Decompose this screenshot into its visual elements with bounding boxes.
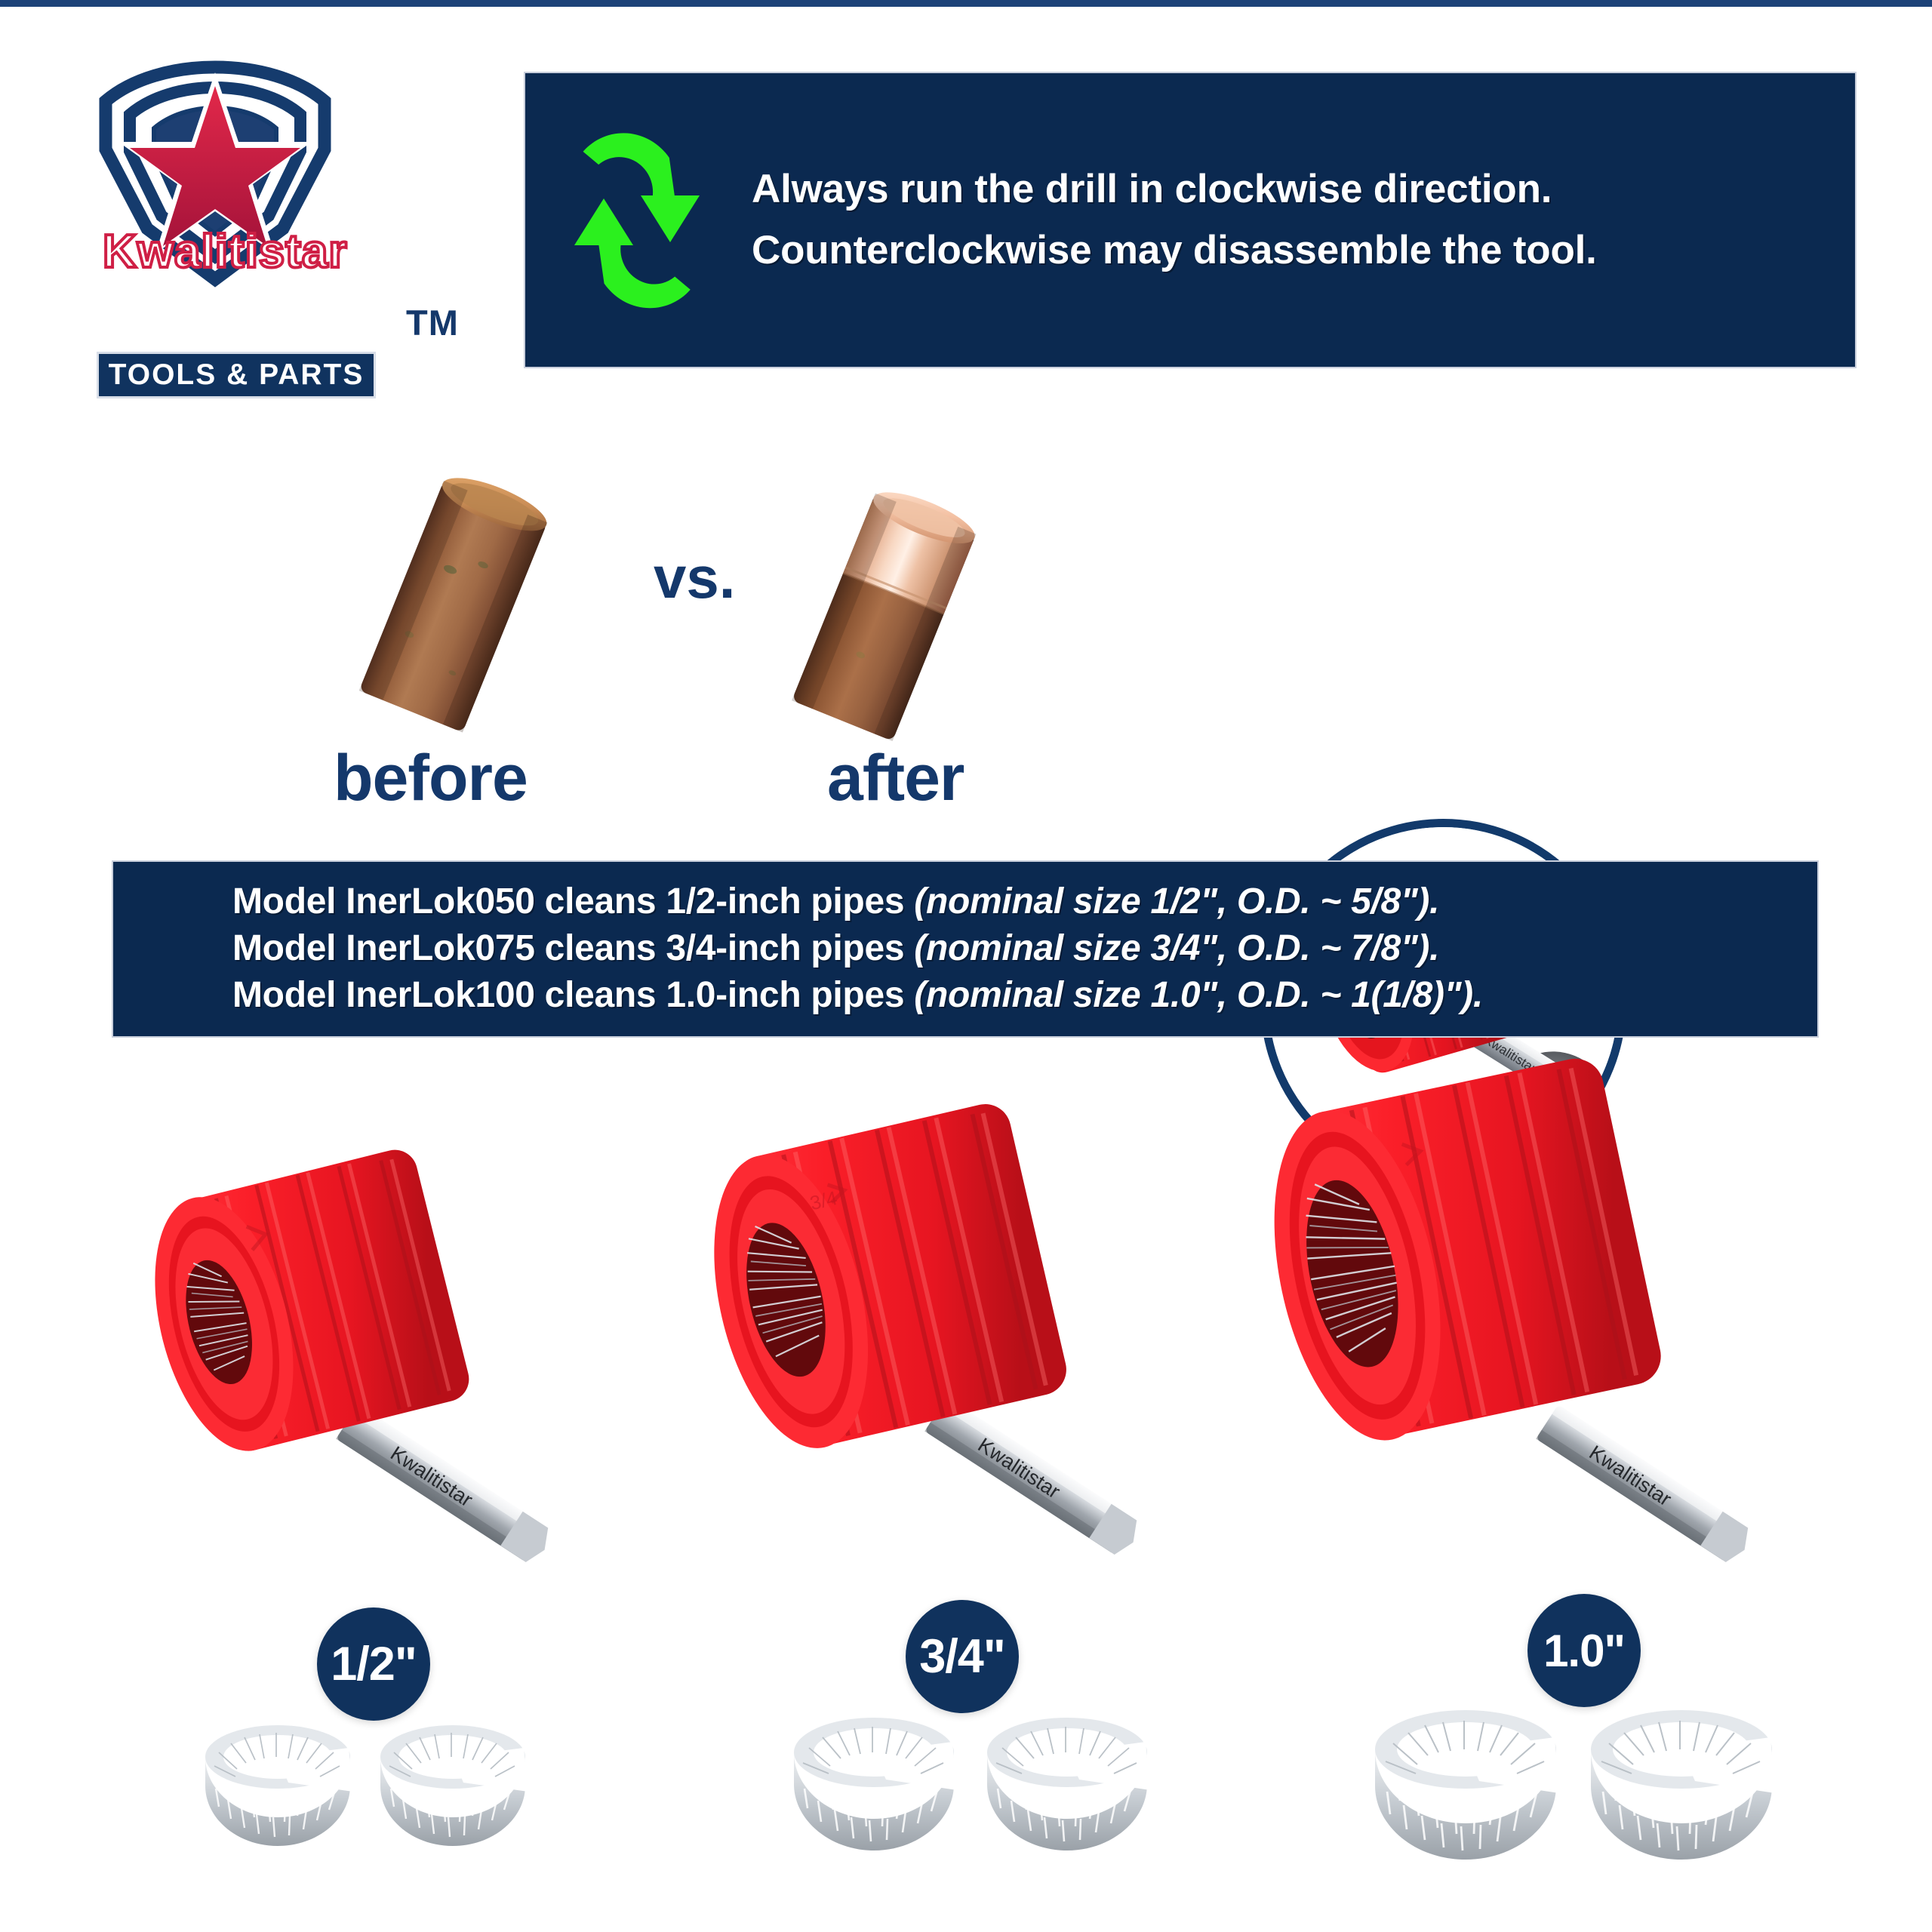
brand-tagline-text: TOOLS & PARTS [109,358,365,392]
svg-text:Kwalitistar: Kwalitistar [103,226,348,278]
product-card-three-quarter-inch: Kwalitistar [672,1072,1275,1872]
model-1-note: (nominal size 1/2", O.D. ~ 5/8"). [914,881,1439,921]
wire-brush-inserts-three-quarter-inch [777,1706,1200,1902]
brand-tagline-banner: TOOLS & PARTS [97,352,376,398]
before-after-comparison: before vs. [0,400,1932,860]
model-3-main: Model InerLok100 cleans 1.0-inch pipes [232,975,904,1015]
model-line-2: Model InerLok075 cleans 3/4-inch pipes (… [232,925,1817,972]
top-border-rule [0,0,1932,7]
red-pipe-brush-tool-half-inch: Kwalitistar [106,1109,589,1683]
brand-logo: TM TOOLS & PARTS Kwalitistar [83,36,400,383]
model-2-main: Model InerLok075 cleans 3/4-inch pipes [232,928,904,968]
wire-brush-inserts-one-inch [1358,1698,1826,1917]
wire-brush-inserts-half-inch [189,1713,581,1902]
clockwise-rotation-arrows-icon [525,111,752,330]
brand-wordmark: Kwalitistar [103,225,374,281]
model-line-1: Model InerLok050 cleans 1/2-inch pipes (… [232,878,1817,925]
before-label: before [334,741,528,816]
model-line-3: Model InerLok100 cleans 1.0-inch pipes (… [232,972,1817,1019]
warning-line-1: Always run the drill in clockwise direct… [752,159,1825,220]
vs-label: vs. [654,543,735,612]
size-badge-three-quarter-inch: 3/4" [906,1600,1019,1713]
before-pipe-photo [341,460,568,747]
infographic-page: TM TOOLS & PARTS Kwalitistar [0,0,1932,1932]
trademark-mark: TM [406,302,459,343]
model-3-note: (nominal size 1.0", O.D. ~ 1(1/8)"). [914,975,1483,1015]
product-card-half-inch: Kwalitistar [106,1109,649,1864]
after-pipe-photo [771,472,998,759]
size-badge-half-inch: 1/2" [317,1607,430,1721]
model-2-note: (nominal size 3/4", O.D. ~ 7/8"). [914,928,1439,968]
size-badge-one-inch: 1.0" [1527,1594,1641,1707]
model-1-main: Model InerLok050 cleans 1/2-inch pipes [232,881,904,921]
product-card-one-inch: Kwalitistar [1238,1034,1902,1879]
red-pipe-brush-tool-three-quarter-inch: Kwalitistar [672,1072,1200,1683]
clockwise-warning-banner: Always run the drill in clockwise direct… [524,72,1857,368]
warning-line-2: Counterclockwise may disassemble the too… [752,220,1825,281]
after-label: after [827,741,964,816]
red-pipe-brush-tool-one-inch: Kwalitistar [1238,1034,1834,1698]
model-size-info-panel: Model InerLok050 cleans 1/2-inch pipes (… [112,860,1819,1038]
